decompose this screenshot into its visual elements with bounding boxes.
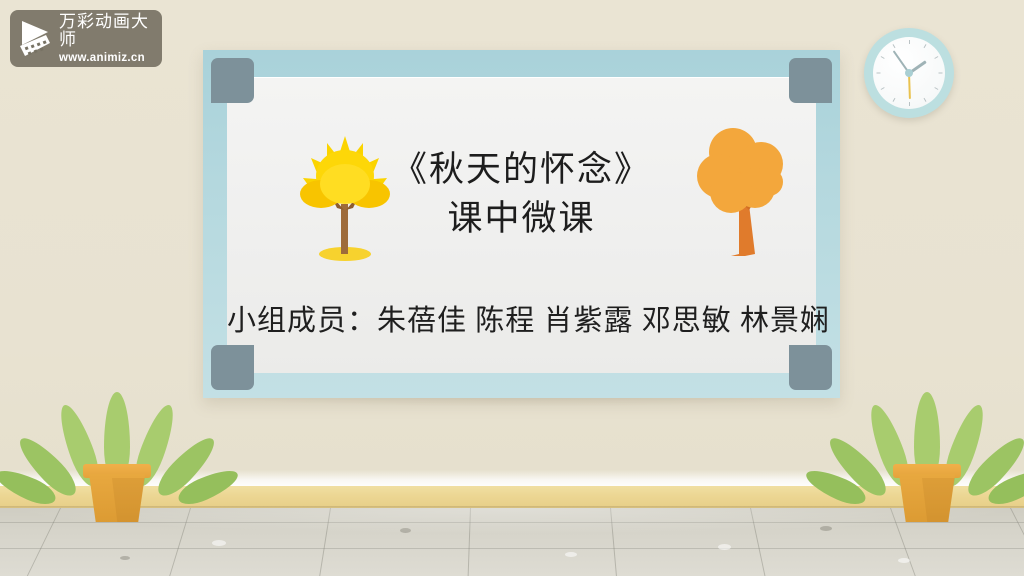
potted-plant-left — [42, 392, 192, 522]
film-play-icon — [18, 19, 54, 59]
title-line-1: 《秋天的怀念》 — [227, 149, 816, 192]
board-clamp-top-left — [211, 58, 254, 103]
watermark-badge[interactable]: 万彩动画大师 www.animiz.cn — [10, 10, 162, 67]
board-clamp-bottom-right — [789, 345, 832, 390]
slide-canvas: 《秋天的怀念》 课中微课 小组成员：朱蓓佳 陈程 肖紫露 邓思敏 林景娴 — [0, 0, 1024, 576]
board-clamp-top-right — [789, 58, 832, 103]
group-members-line: 小组成员：朱蓓佳 陈程 肖紫露 邓思敏 林景娴 — [227, 297, 816, 339]
plant-pot-shading — [922, 478, 955, 522]
watermark-url: www.animiz.cn — [59, 52, 154, 64]
clock-face — [873, 37, 945, 109]
title-line-2: 课中微课 — [227, 198, 816, 241]
whiteboard-surface: 《秋天的怀念》 课中微课 小组成员：朱蓓佳 陈程 肖紫露 邓思敏 林景娴 — [227, 77, 816, 373]
slide-title: 《秋天的怀念》 课中微课 — [227, 77, 816, 240]
plant-pot-shading — [112, 478, 145, 522]
wall-clock-icon — [864, 28, 954, 118]
clock-center-pin — [905, 69, 913, 77]
board-clamp-bottom-left — [211, 345, 254, 390]
whiteboard[interactable]: 《秋天的怀念》 课中微课 小组成员：朱蓓佳 陈程 肖紫露 邓思敏 林景娴 — [203, 50, 840, 398]
watermark-brand: 万彩动画大师 — [59, 13, 154, 49]
potted-plant-right — [852, 392, 1002, 522]
